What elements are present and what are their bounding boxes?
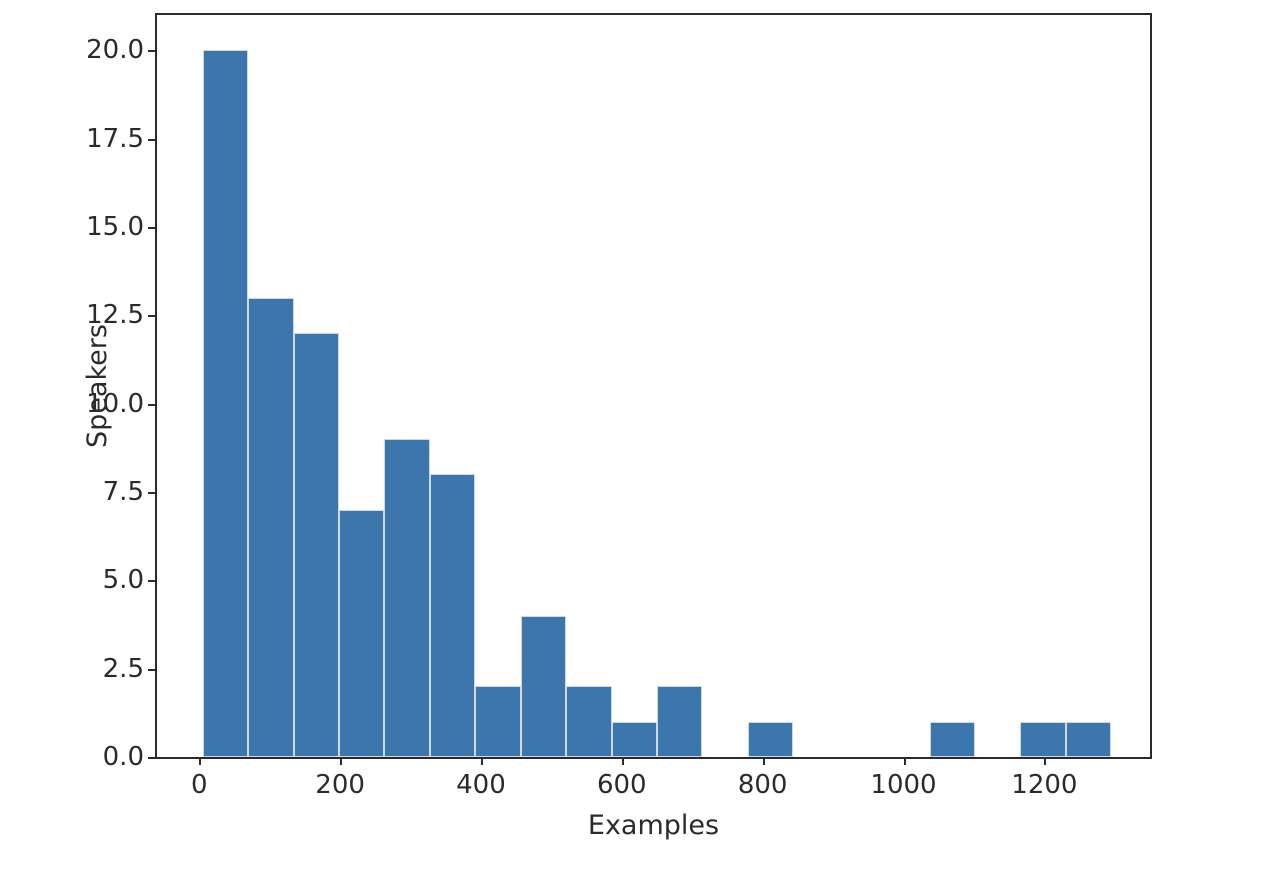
histogram-bar <box>930 722 975 757</box>
histogram-bar <box>521 616 566 757</box>
x-tick-label: 600 <box>597 772 647 798</box>
histogram-bar <box>475 686 520 757</box>
y-tick-mark <box>148 227 156 229</box>
x-tick-label: 0 <box>191 772 208 798</box>
y-tick-mark <box>148 315 156 317</box>
x-tick-mark <box>340 757 342 765</box>
x-tick-mark <box>904 757 906 765</box>
histogram-bar <box>612 722 657 757</box>
histogram-bar <box>430 474 475 757</box>
histogram-bar <box>566 686 611 757</box>
histogram-bar <box>203 50 248 757</box>
x-tick-label: 200 <box>315 772 365 798</box>
x-tick-mark <box>622 757 624 765</box>
x-tick-mark <box>199 757 201 765</box>
histogram-bar <box>248 298 293 757</box>
x-tick-mark <box>1044 757 1046 765</box>
x-tick-mark <box>481 757 483 765</box>
plot-axes: 020040060080010001200 0.02.55.07.510.012… <box>155 13 1152 759</box>
y-tick-mark <box>148 757 156 759</box>
y-tick-mark <box>148 580 156 582</box>
histogram-bar <box>1020 722 1065 757</box>
x-tick-label: 1200 <box>1011 772 1077 798</box>
histogram-figure: 020040060080010001200 0.02.55.07.510.012… <box>0 0 1270 874</box>
x-tick-label: 800 <box>738 772 788 798</box>
y-tick-mark <box>148 669 156 671</box>
x-tick-mark <box>763 757 765 765</box>
plot-area <box>157 15 1150 757</box>
x-axis-label: Examples <box>155 810 1152 841</box>
x-tick-label: 1000 <box>870 772 936 798</box>
histogram-bar <box>748 722 793 757</box>
histogram-bar <box>294 333 339 757</box>
y-tick-mark <box>148 139 156 141</box>
y-axis-label-wrap: Speakers <box>38 13 98 759</box>
y-tick-mark <box>148 492 156 494</box>
histogram-bar <box>657 686 702 757</box>
histogram-bar <box>1066 722 1111 757</box>
y-axis-label: Speakers <box>68 13 128 759</box>
histogram-bar <box>384 439 429 757</box>
y-tick-mark <box>148 404 156 406</box>
histogram-bar <box>339 510 384 757</box>
y-tick-mark <box>148 50 156 52</box>
x-tick-label: 400 <box>456 772 506 798</box>
